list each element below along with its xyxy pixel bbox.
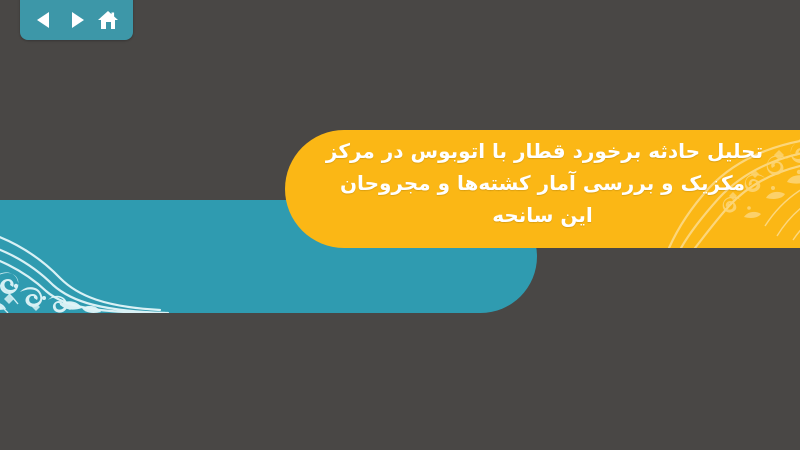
slide-canvas: تحلیل حادثه برخورد قطار با اتوبوس در مرک… [0,0,800,450]
next-slide-button[interactable] [63,7,89,33]
triangle-left-icon [35,10,55,30]
home-button[interactable] [95,7,121,33]
home-icon [97,9,119,31]
orange-arabesque-ornament-icon [665,130,800,248]
orange-title-band [285,130,800,248]
triangle-right-icon [66,10,86,30]
slide-navigation-bar [20,0,133,40]
previous-slide-button[interactable] [32,7,58,33]
teal-arabesque-ornament-icon [0,200,170,313]
